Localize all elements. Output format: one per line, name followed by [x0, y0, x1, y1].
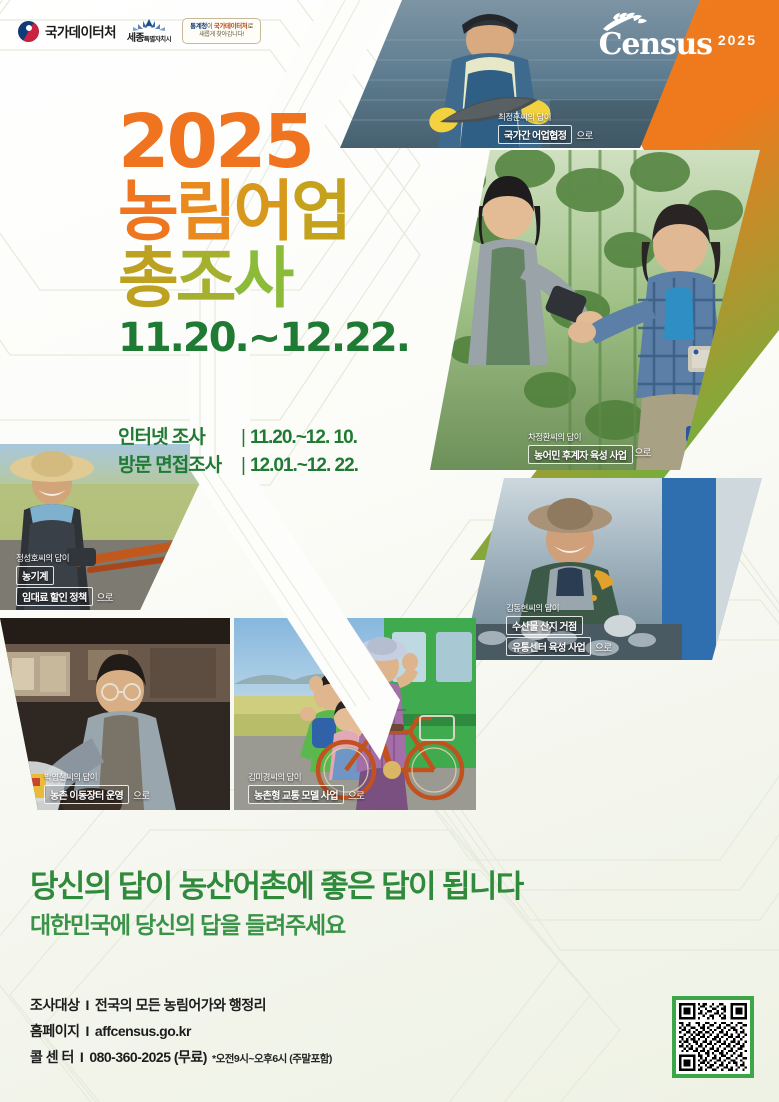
- footer-row-callcenter: 콜 센 터 I 080-360-2025 (무료) *오전9시~오후6시 (주말…: [30, 1045, 332, 1071]
- caption-suffix: 으로: [348, 788, 364, 802]
- schedule-label: 방문 면접조사: [118, 452, 236, 480]
- caption-suffix: 으로: [97, 590, 113, 604]
- caption-suffix: 으로: [595, 640, 611, 654]
- sejong-city-logo: 세종특별자치시: [127, 18, 171, 44]
- schedule-value: 11.20.~12. 10.: [250, 424, 357, 452]
- sejong-logo-name: 세종특별자치시: [127, 34, 171, 44]
- qr-code-icon: [679, 1003, 747, 1071]
- caption-key-2: 임대료 할인 정책: [16, 587, 93, 606]
- caption-person: 정성호씨의 답이: [16, 552, 182, 564]
- footer-phone-number[interactable]: 080-360-2025 (무료): [89, 1045, 207, 1071]
- schedule-separator: |: [241, 452, 245, 480]
- schedule-row-visit: 방문 면접조사 | 12.01.~12. 22.: [118, 452, 358, 480]
- headline-char-rim: 림: [176, 174, 234, 248]
- caption-village-bus-family: 김미경씨의 답이 농촌형 교통 모델 사업 으로: [240, 771, 470, 804]
- notice-new-agency: 국가데이터처: [214, 23, 247, 30]
- sejong-label: 세종: [127, 33, 144, 44]
- footer-label: 콜 센 터: [30, 1045, 74, 1071]
- census-poster: 최정훈씨의 답이 국가간 어업협정 으로: [0, 0, 779, 1102]
- footer-row-website: 홈페이지 I affcensus.go.kr: [30, 1019, 332, 1045]
- headline-char-eo: 어: [233, 174, 291, 248]
- footer-contact-block: 조사대상 I 전국의 모든 농림어가와 행정리 홈페이지 I affcensus…: [30, 993, 332, 1071]
- caption-suffix: 으로: [635, 445, 651, 459]
- headline-char-chong: 총: [118, 241, 176, 315]
- slogan-line-1: 당신의 답이 농산어촌에 좋은 답이 됩니다: [30, 868, 523, 905]
- agency-rename-notice: 통계청이 국가데이터처로 새롭게 찾아갑니다!: [182, 18, 261, 44]
- caption-person: 김동현씨의 답이: [506, 602, 746, 614]
- header-logos: 국가데이터처 세종특별자치시 통계청이 국가데이터처로 새롭게 찾아갑니다!: [18, 18, 261, 44]
- footer-separator: I: [86, 1019, 89, 1045]
- caption-person: 김미경씨의 답이: [248, 771, 462, 783]
- headline-char-nong: 농: [118, 174, 176, 248]
- footer-row-target: 조사대상 I 전국의 모든 농림어가와 행정리: [30, 993, 332, 1019]
- caption-suffix: 으로: [576, 128, 592, 142]
- notice-line-2: 새롭게 찾아갑니다!: [190, 31, 253, 39]
- notice-old-agency: 통계청: [190, 23, 207, 30]
- schedule-value: 12.01.~12. 22.: [250, 452, 358, 480]
- footer-label: 조사대상: [30, 993, 80, 1019]
- caption-mobile-market: 박영철씨의 답이 농촌 이동장터 운영 으로: [36, 771, 224, 804]
- qr-code[interactable]: [672, 996, 754, 1078]
- notice-particle-1: 이: [207, 23, 214, 30]
- photo-panel-village-bus-family: 김미경씨의 답이 농촌형 교통 모델 사업 으로: [234, 618, 476, 810]
- footer-separator: I: [80, 1045, 83, 1071]
- gov-logo-name: 국가데이터처: [45, 21, 116, 41]
- caption-key: 농촌형 교통 모델 사업: [248, 785, 344, 804]
- footer-label: 홈페이지: [30, 1019, 80, 1045]
- caption-key: 농촌 이동장터 운영: [44, 785, 129, 804]
- sejong-suffix: 특별자치시: [144, 36, 171, 43]
- footer-website-link[interactable]: affcensus.go.kr: [95, 1019, 191, 1045]
- headline-title-line-1: 농림어업: [118, 178, 409, 245]
- headline-char-sa: 사: [233, 241, 291, 315]
- caption-person: 박영철씨의 답이: [44, 771, 216, 783]
- caption-key: 국가간 어업협정: [498, 125, 572, 144]
- taegeuk-icon: [18, 21, 39, 42]
- caption-key-2: 유통센터 육성 사업: [506, 637, 591, 656]
- headline-title-line-2: 총조사: [118, 245, 409, 312]
- headline-block: 2025 농림어업 총조사 11.20.~12.22.: [118, 108, 409, 360]
- footer-separator: I: [86, 993, 89, 1019]
- census-year: 2025: [718, 33, 757, 47]
- caption-suffix: 으로: [133, 788, 149, 802]
- photo-panel-senior-fisherman: 김동현씨의 답이 수산물 산지 거점 유통센터 육성 사업 으로: [462, 478, 762, 660]
- schedule-separator: |: [241, 424, 245, 452]
- photo-panel-mobile-market: 박영철씨의 답이 농촌 이동장터 운영 으로: [0, 618, 230, 810]
- gov-logo: 국가데이터처: [18, 21, 116, 42]
- footer-value: 전국의 모든 농림어가와 행정리: [95, 993, 266, 1019]
- schedule-label: 인터넷 조사: [118, 424, 236, 452]
- census-wordmark: Census: [599, 31, 712, 59]
- headline-char-jo: 조: [176, 241, 234, 315]
- caption-key: 농기계: [16, 566, 54, 585]
- caption-key: 농어민 후계자 육성 사업: [528, 445, 633, 464]
- headline-year: 2025: [118, 108, 409, 178]
- census-logo: Census 2025: [599, 12, 757, 59]
- footer-hours-note: *오전9시~오후6시 (주말포함): [212, 1050, 332, 1069]
- headline-date-range: 11.20.~12.22.: [118, 316, 409, 360]
- sejong-wing-icon: [127, 18, 171, 34]
- notice-particle-2: 로: [247, 23, 253, 30]
- slogan-block: 당신의 답이 농산어촌에 좋은 답이 됩니다 대한민국에 당신의 답을 들려주세…: [30, 868, 523, 941]
- schedule-row-internet: 인터넷 조사 | 11.20.~12. 10.: [118, 424, 358, 452]
- headline-char-eop: 업: [291, 174, 349, 248]
- slogan-line-2: 대한민국에 당신의 답을 들려주세요: [30, 911, 523, 941]
- survey-schedule: 인터넷 조사 | 11.20.~12. 10. 방문 면접조사 | 12.01.…: [118, 424, 358, 479]
- caption-key: 수산물 산지 거점: [506, 616, 583, 635]
